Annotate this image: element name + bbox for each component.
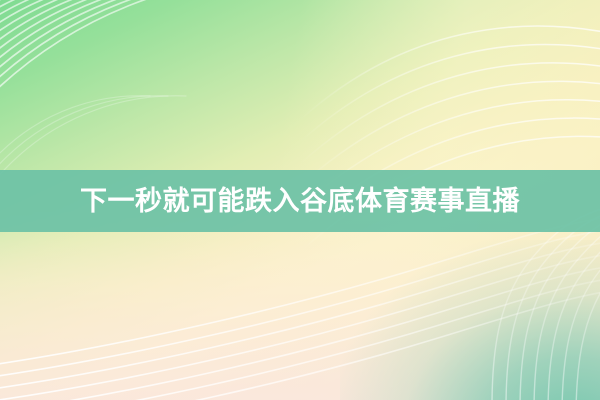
title-band: 下一秒就可能跌入谷底体育赛事直播: [0, 170, 600, 232]
promo-banner: 下一秒就可能跌入谷底体育赛事直播: [0, 0, 600, 400]
background-teal-corner: [340, 240, 600, 400]
banner-title: 下一秒就可能跌入谷底体育赛事直播: [80, 188, 520, 215]
